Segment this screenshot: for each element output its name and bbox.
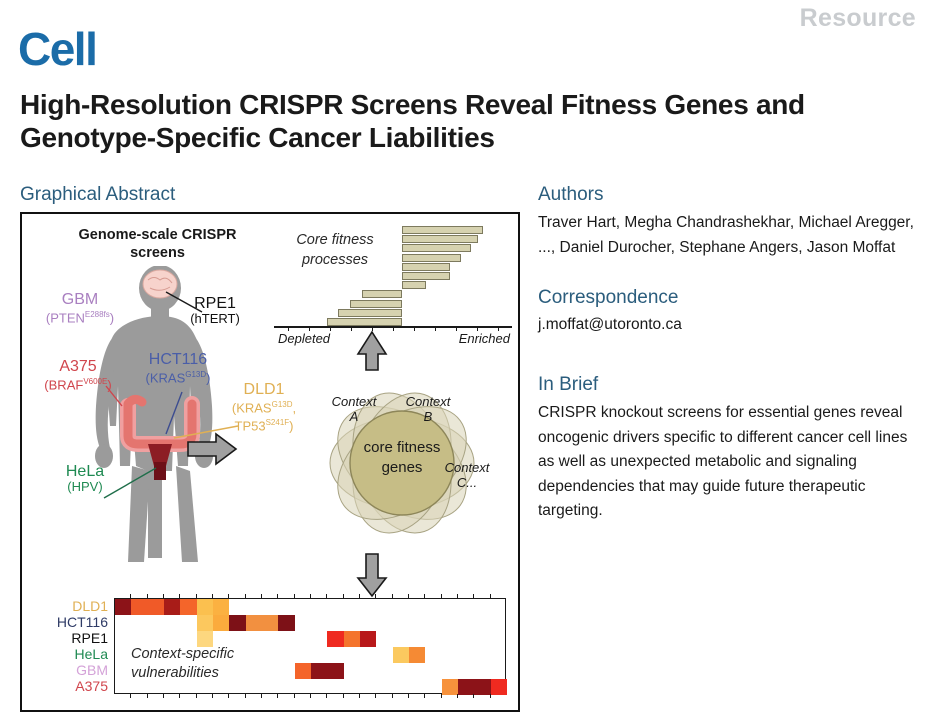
heatmap-tick: [179, 594, 180, 598]
heatmap-cell: [197, 615, 213, 631]
bar-p6: [402, 272, 450, 280]
arrow-up-to-barchart: [352, 330, 392, 372]
heatmap-cell: [213, 599, 229, 615]
bar-p3: [402, 244, 471, 252]
cell-line-name: A375: [26, 359, 130, 374]
correspondence-email[interactable]: j.moffat@utoronto.ca: [538, 313, 918, 338]
heatmap-tick: [457, 594, 458, 598]
heatmap-tick: [196, 594, 197, 598]
heatmap-tick: [408, 594, 409, 598]
graphical-abstract-heading: Graphical Abstract: [20, 184, 175, 206]
heatmap-tick: [212, 694, 213, 698]
correspondence-heading: Correspondence: [538, 287, 678, 309]
cell-line-name: HCT116: [126, 352, 230, 367]
heatmap-tick: [261, 594, 262, 598]
heatmap-cell: [115, 599, 131, 615]
heatmap-cell: [393, 647, 409, 663]
heatmap-tick: [228, 594, 229, 598]
heatmap-row-label-dld1: DLD1: [38, 598, 112, 614]
heatmap-tick: [490, 694, 491, 698]
heatmap-tick: [457, 694, 458, 698]
heatmap-tick: [392, 594, 393, 598]
bar-axis-tick: [414, 326, 415, 331]
arrow-right-to-venn: [186, 432, 238, 466]
heatmap-cell: [311, 663, 344, 679]
heatmap-cell: [458, 679, 491, 695]
heatmap-cell: [409, 647, 425, 663]
heatmap-tick: [294, 594, 295, 598]
heatmap-tick: [163, 594, 164, 598]
heatmap-cell: [197, 599, 213, 615]
heatmap-cell: [295, 663, 311, 679]
heatmap-tick: [212, 594, 213, 598]
bar-p11: [327, 318, 402, 326]
heatmap-row-label-hela: HeLa: [38, 646, 112, 662]
heatmap-tick: [228, 694, 229, 698]
cell-line-label-hct116: HCT116 (KRASG13D): [126, 352, 230, 385]
heatmap-row-labels: DLD1HCT116RPE1HeLaGBMA375: [38, 598, 112, 694]
screens-title: Genome-scale CRISPR screens: [70, 226, 245, 262]
bar-p1: [402, 226, 483, 234]
heatmap-tick: [147, 694, 148, 698]
heatmap-tick: [490, 594, 491, 598]
heatmap-cell: [344, 631, 360, 647]
cell-line-name: GBM: [28, 292, 132, 307]
cell-line-name: HeLa: [42, 464, 128, 479]
bar-axis-tick: [393, 326, 394, 331]
heatmap-caption: Context-specific vulnerabilities: [131, 645, 291, 683]
brain-organ: [143, 270, 177, 298]
cell-journal-logo: Cell: [18, 26, 96, 72]
venn-center-label: core fitness genes: [354, 438, 450, 478]
heatmap-tick: [294, 694, 295, 698]
heatmap-tick: [408, 694, 409, 698]
bar-p8: [362, 290, 402, 298]
cell-line-label-gbm: GBM (PTENE288fs): [28, 292, 132, 325]
heatmap-tick: [343, 594, 344, 598]
heatmap-row-label-rpe1: RPE1: [38, 630, 112, 646]
core-fitness-bar-chart: Core fitness processes Depleted Enriched: [274, 220, 512, 342]
heatmap-tick: [392, 694, 393, 698]
heatmap-tick: [326, 694, 327, 698]
cell-line-label-rpe1: RPE1 (hTERT): [170, 296, 260, 326]
bar-p9: [350, 300, 402, 308]
heatmap-tick: [261, 694, 262, 698]
authors-heading: Authors: [538, 184, 603, 206]
heatmap-tick: [359, 594, 360, 598]
venn-label-context-a: Context A: [326, 394, 382, 424]
heatmap-tick: [310, 694, 311, 698]
heatmap-tick: [130, 594, 131, 598]
axis-label-enriched: Enriched: [459, 331, 510, 346]
graphical-abstract-figure: Genome-scale CRISPR screens: [20, 212, 520, 712]
cell-line-mutation: (HPV): [42, 479, 128, 494]
cell-line-label-hela: HeLa (HPV): [42, 464, 128, 494]
heatmap-tick: [375, 594, 376, 598]
heatmap-tick: [326, 594, 327, 598]
heatmap-cell: [278, 615, 294, 631]
context-specific-heatmap: DLD1HCT116RPE1HeLaGBMA375 Context-specif…: [38, 598, 508, 702]
core-fitness-venn-diagram: Context A Context B Context C... core fi…: [290, 372, 514, 554]
heatmap-tick: [147, 594, 148, 598]
heatmap-tick: [375, 694, 376, 698]
bar-p2: [402, 235, 478, 243]
heatmap-tick: [473, 694, 474, 698]
heatmap-cell: [246, 615, 279, 631]
heatmap-cell: [180, 599, 196, 615]
heatmap-cell: [360, 631, 376, 647]
heatmap-tick: [441, 594, 442, 598]
heatmap-cell: [327, 631, 343, 647]
bar-axis-tick: [456, 326, 457, 331]
heatmap-row-label-a375: A375: [38, 678, 112, 694]
cell-line-name: RPE1: [170, 296, 260, 311]
cell-line-mutation: (hTERT): [170, 311, 260, 326]
heatmap-tick: [245, 694, 246, 698]
venn-label-context-b: Context B: [400, 394, 456, 424]
bar-chart-title: Core fitness processes: [280, 230, 390, 270]
heatmap-row-label-gbm: GBM: [38, 662, 112, 678]
heatmap-cell: [164, 599, 180, 615]
in-brief-heading: In Brief: [538, 374, 598, 396]
arrow-down-to-heatmap: [352, 552, 392, 598]
heatmap-tick: [196, 694, 197, 698]
heatmap-tick: [163, 694, 164, 698]
heatmap-tick: [179, 694, 180, 698]
cell-line-mutation: (PTENE288fs): [28, 307, 132, 325]
heatmap-tick: [245, 594, 246, 598]
heatmap-tick: [343, 694, 344, 698]
cell-line-label-a375: A375 (BRAFV600E): [26, 359, 130, 392]
heatmap-cell: [131, 599, 164, 615]
bar-axis-tick: [435, 326, 436, 331]
heatmap-row-label-hct116: HCT116: [38, 614, 112, 630]
bar-p7: [402, 281, 426, 289]
cell-line-mutation: (BRAFV600E): [26, 374, 130, 392]
heatmap-cell: [213, 615, 229, 631]
heatmap-tick: [310, 594, 311, 598]
page-title: High-Resolution CRISPR Screens Reveal Fi…: [20, 88, 840, 154]
bar-p10: [338, 309, 402, 317]
heatmap-cell: [491, 679, 507, 695]
article-type-label: Resource: [800, 4, 916, 33]
heatmap-tick: [277, 694, 278, 698]
axis-label-depleted: Depleted: [278, 331, 330, 346]
heatmap-tick: [359, 694, 360, 698]
heatmap-tick: [441, 694, 442, 698]
heatmap-tick: [473, 594, 474, 598]
heatmap-tick: [424, 594, 425, 598]
heatmap-grid: Context-specific vulnerabilities: [114, 598, 506, 694]
bar-p5: [402, 263, 450, 271]
heatmap-cell: [442, 679, 458, 695]
authors-list: Traver Hart, Megha Chandrashekhar, Micha…: [538, 211, 918, 260]
bar-axis-tick: [330, 326, 331, 331]
in-brief-text: CRISPR knockout screens for essential ge…: [538, 401, 918, 524]
heatmap-tick: [130, 694, 131, 698]
article-first-page: Resource Cell High-Resolution CRISPR Scr…: [0, 0, 942, 721]
bar-p4: [402, 254, 461, 262]
heatmap-cell: [229, 615, 245, 631]
heatmap-tick: [277, 594, 278, 598]
heatmap-tick: [424, 694, 425, 698]
